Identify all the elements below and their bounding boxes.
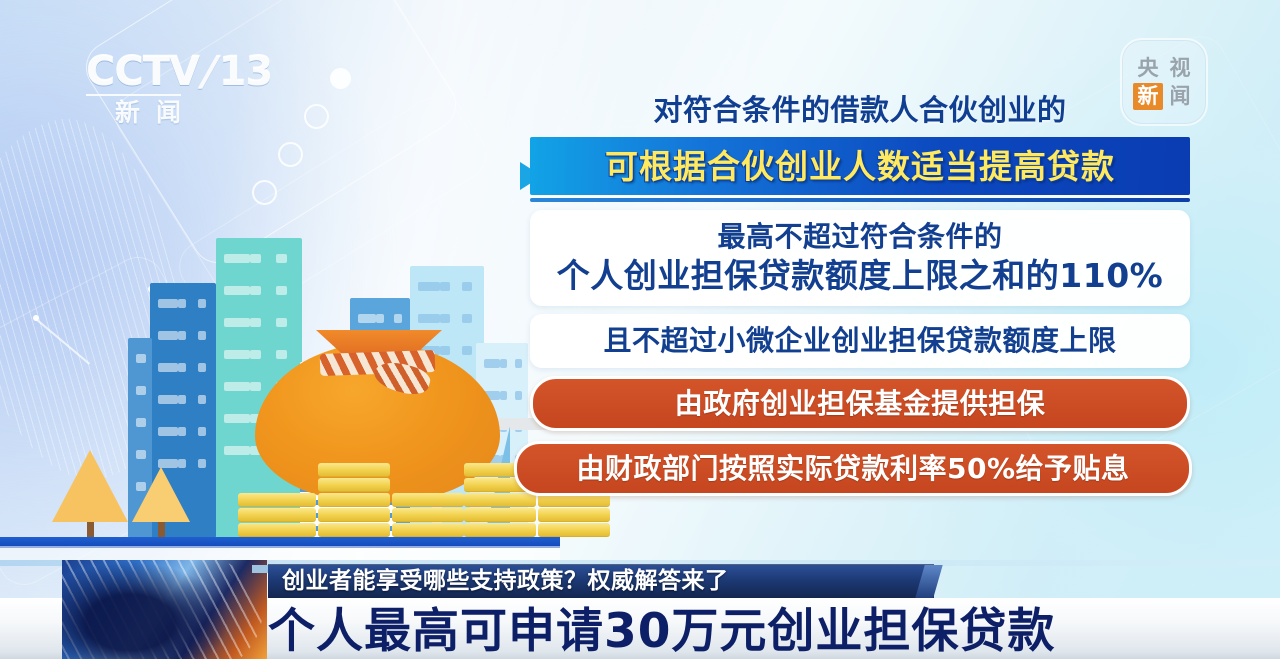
building-window — [440, 282, 450, 291]
building-window — [358, 314, 376, 323]
building-window — [515, 359, 522, 368]
building-window — [136, 450, 146, 459]
building-window — [276, 286, 287, 295]
building-window — [198, 363, 207, 372]
building-window — [178, 395, 187, 404]
coin — [238, 493, 316, 507]
info-pill-text: 由财政部门按照实际贷款利率50%给予贴息 — [576, 452, 1129, 485]
building-window — [224, 446, 250, 455]
ground-glow — [0, 546, 560, 560]
building-window — [224, 414, 250, 423]
coin — [464, 493, 536, 507]
building-window — [394, 314, 402, 323]
building-window — [158, 395, 178, 404]
coin — [538, 523, 610, 537]
building-window — [224, 254, 250, 263]
coin — [318, 493, 390, 507]
highlight-bar: 可根据合伙创业人数适当提高贷款 — [530, 137, 1190, 195]
building-window — [198, 459, 207, 468]
building-window — [484, 359, 500, 368]
building-window — [515, 391, 522, 400]
coin — [238, 508, 316, 522]
building-window — [440, 346, 450, 355]
coin — [392, 523, 464, 537]
building-window — [250, 286, 261, 295]
info-pill: 由财政部门按照实际贷款利率50%给予贴息 — [514, 441, 1192, 496]
building-window — [440, 314, 450, 323]
tree — [132, 467, 190, 537]
building-window — [418, 282, 440, 291]
building-window — [198, 331, 207, 340]
info-card-list: 最高不超过符合条件的个人创业担保贷款额度上限之和的110%且不超过小微企业创业担… — [530, 210, 1190, 368]
coin — [318, 478, 390, 492]
building-window — [500, 391, 507, 400]
highlight-bar-underline — [530, 198, 1190, 202]
building-window — [462, 282, 472, 291]
building-window — [462, 346, 472, 355]
info-card-line: 最高不超过符合条件的 — [546, 220, 1174, 254]
building-window — [250, 318, 261, 327]
info-card-line: 且不超过小微企业创业担保贷款额度上限 — [546, 324, 1174, 358]
building-window — [276, 318, 287, 327]
building-window — [276, 350, 287, 359]
panel-lead-text: 对符合条件的借款人合伙创业的 — [530, 94, 1190, 127]
coin — [318, 508, 390, 522]
coin — [538, 508, 610, 522]
sub-banner-text: 创业者能享受哪些支持政策？权威解答来了 — [282, 570, 729, 593]
coin — [318, 523, 390, 537]
building-window — [198, 395, 207, 404]
lower-third: 创业者能享受哪些支持政策？权威解答来了 个人最高可申请30万元创业担保贷款 — [0, 560, 1280, 659]
tree-trunk — [158, 522, 165, 537]
cctv-logo-number: 13 — [219, 52, 273, 92]
building-window — [136, 418, 146, 427]
building-window — [250, 382, 261, 391]
cctv-logo-text: CCTV — [86, 52, 199, 92]
building-window — [158, 427, 178, 436]
tree-canopy — [132, 467, 190, 522]
coin — [392, 493, 464, 507]
info-pill-list: 由政府创业担保基金提供担保由财政部门按照实际贷款利率50%给予贴息 — [530, 376, 1190, 496]
info-card: 最高不超过符合条件的个人创业担保贷款额度上限之和的110% — [530, 210, 1190, 305]
coin — [392, 508, 464, 522]
coin — [238, 523, 316, 537]
building-window — [158, 363, 178, 372]
building-window — [158, 299, 178, 308]
decorative-swirl-graphic — [62, 560, 267, 659]
building-window — [500, 359, 507, 368]
coin-stack — [392, 492, 464, 537]
info-pill: 由政府创业担保基金提供担保 — [530, 376, 1190, 431]
coin — [464, 523, 536, 537]
building-window — [198, 299, 207, 308]
info-card: 且不超过小微企业创业担保贷款额度上限 — [530, 314, 1190, 368]
building-window — [376, 314, 384, 323]
building-window — [136, 386, 146, 395]
tree — [52, 450, 128, 537]
building-window — [178, 363, 187, 372]
building-window — [178, 299, 187, 308]
building-window — [462, 314, 472, 323]
building-window — [250, 254, 261, 263]
info-card-line: 个人创业担保贷款额度上限之和的110% — [546, 256, 1174, 296]
app-logo-char: 央 — [1133, 55, 1163, 82]
building-window — [224, 382, 250, 391]
tree-canopy — [52, 450, 128, 522]
coin-stack — [238, 492, 316, 537]
building-window — [136, 354, 146, 363]
building-window — [276, 254, 287, 263]
sub-banner: 创业者能享受哪些支持政策？权威解答来了 — [268, 564, 934, 598]
highlight-bar-text: 可根据合伙创业人数适当提高贷款 — [605, 150, 1115, 183]
coin — [464, 508, 536, 522]
building-window — [250, 350, 261, 359]
building-window — [158, 331, 178, 340]
building-window — [224, 286, 250, 295]
cctv13-logo: CCTV / 13 新闻 — [86, 52, 236, 137]
building-window — [198, 427, 207, 436]
headline-text: 个人最高可申请30万元创业担保贷款 — [268, 608, 1055, 655]
building-window — [224, 350, 250, 359]
info-pill-text: 由政府创业担保基金提供担保 — [675, 387, 1046, 420]
coin — [318, 463, 390, 477]
building-window — [178, 427, 187, 436]
building-window — [224, 318, 250, 327]
coin-stack — [318, 462, 390, 537]
cctv-logo-slash: / — [197, 52, 221, 92]
cctv-logo-cn: 新闻 — [86, 100, 226, 125]
info-panel: 对符合条件的借款人合伙创业的 可根据合伙创业人数适当提高贷款 最高不超过符合条件… — [530, 94, 1190, 506]
tree-trunk — [87, 522, 94, 537]
app-logo-char: 视 — [1165, 55, 1195, 82]
city-money-illustration — [0, 130, 560, 560]
building-window — [178, 331, 187, 340]
broadcast-frame: CCTV / 13 新闻 央 视 新 闻 — [0, 0, 1280, 659]
building-window — [418, 314, 440, 323]
